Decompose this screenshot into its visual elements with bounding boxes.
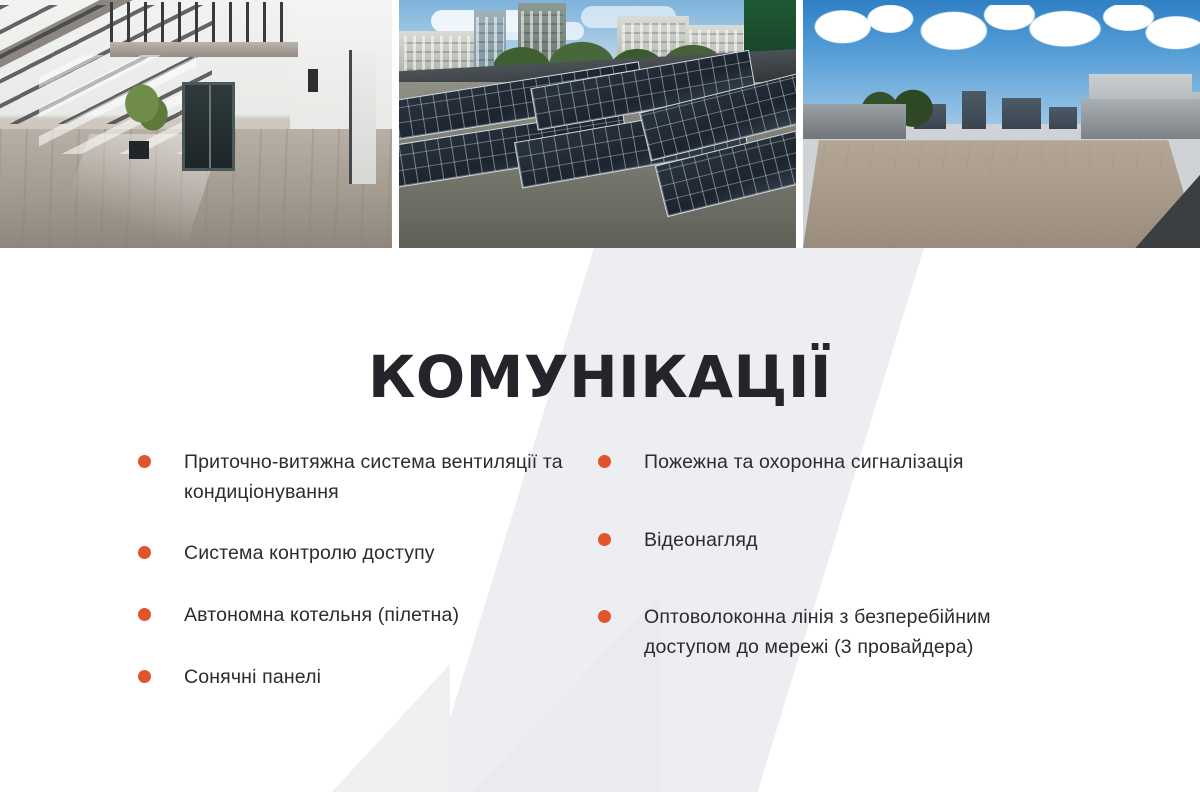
interior-upper-railing bbox=[110, 2, 290, 42]
slide-communications: КОМУНІКАЦІЇ Приточно-витяжна система вен… bbox=[0, 0, 1200, 792]
list-item: Сонячні панелі bbox=[138, 663, 598, 693]
interior-loft-photo bbox=[0, 0, 392, 248]
feature-label: Приточно-витяжна система вентиляції та к… bbox=[184, 448, 598, 507]
feature-label: Система контролю доступу bbox=[184, 539, 435, 569]
bullet-dot-icon bbox=[598, 610, 611, 623]
bullet-dot-icon bbox=[598, 533, 611, 546]
list-item: Автономна котельня (пілетна) bbox=[138, 601, 598, 631]
terrace-right-parapet bbox=[1081, 99, 1200, 139]
page-title: КОМУНІКАЦІЇ bbox=[0, 348, 1200, 406]
list-item: Приточно-витяжна система вентиляції та к… bbox=[138, 448, 598, 507]
feature-label: Відеонагляд bbox=[644, 526, 758, 556]
feature-label: Оптоволоконна лінія з безперебійним дост… bbox=[644, 603, 1068, 662]
bullet-dot-icon bbox=[138, 608, 151, 621]
photo-gap-1 bbox=[392, 0, 399, 248]
interior-plant-pot bbox=[129, 141, 149, 158]
features-column-left: Приточно-витяжна система вентиляції та к… bbox=[138, 448, 598, 724]
bullet-dot-icon bbox=[138, 546, 151, 559]
photo-strip bbox=[0, 0, 1200, 248]
list-item: Система контролю доступу bbox=[138, 539, 598, 569]
feature-label: Пожежна та охоронна сигналізація bbox=[644, 448, 964, 478]
solar-panels-roof-photo bbox=[399, 0, 796, 248]
rooftop-terrace-photo bbox=[803, 0, 1200, 248]
photo-gap-2 bbox=[796, 0, 803, 248]
interior-potted-plant bbox=[122, 84, 173, 148]
list-item: Оптоволоконна лінія з безперебійним дост… bbox=[598, 603, 1068, 662]
terrace-left-parapet bbox=[803, 104, 906, 139]
bullet-dot-icon bbox=[138, 455, 151, 468]
bullet-dot-icon bbox=[598, 455, 611, 468]
interior-side-door bbox=[349, 50, 376, 184]
list-item: Відеонагляд bbox=[598, 526, 1068, 556]
interior-glass-door bbox=[182, 82, 235, 171]
feature-label: Автономна котельня (пілетна) bbox=[184, 601, 459, 631]
bullet-dot-icon bbox=[138, 670, 151, 683]
feature-label: Сонячні панелі bbox=[184, 663, 321, 693]
solar-panel-array bbox=[399, 82, 796, 248]
list-item: Пожежна та охоронна сигналізація bbox=[598, 448, 1068, 478]
slide-content: КОМУНІКАЦІЇ Приточно-витяжна система вен… bbox=[0, 248, 1200, 792]
interior-wall-sconce bbox=[308, 69, 317, 91]
features-column-right: Пожежна та охоронна сигналізація Відеона… bbox=[598, 448, 1068, 724]
features-columns: Приточно-витяжна система вентиляції та к… bbox=[0, 448, 1200, 724]
